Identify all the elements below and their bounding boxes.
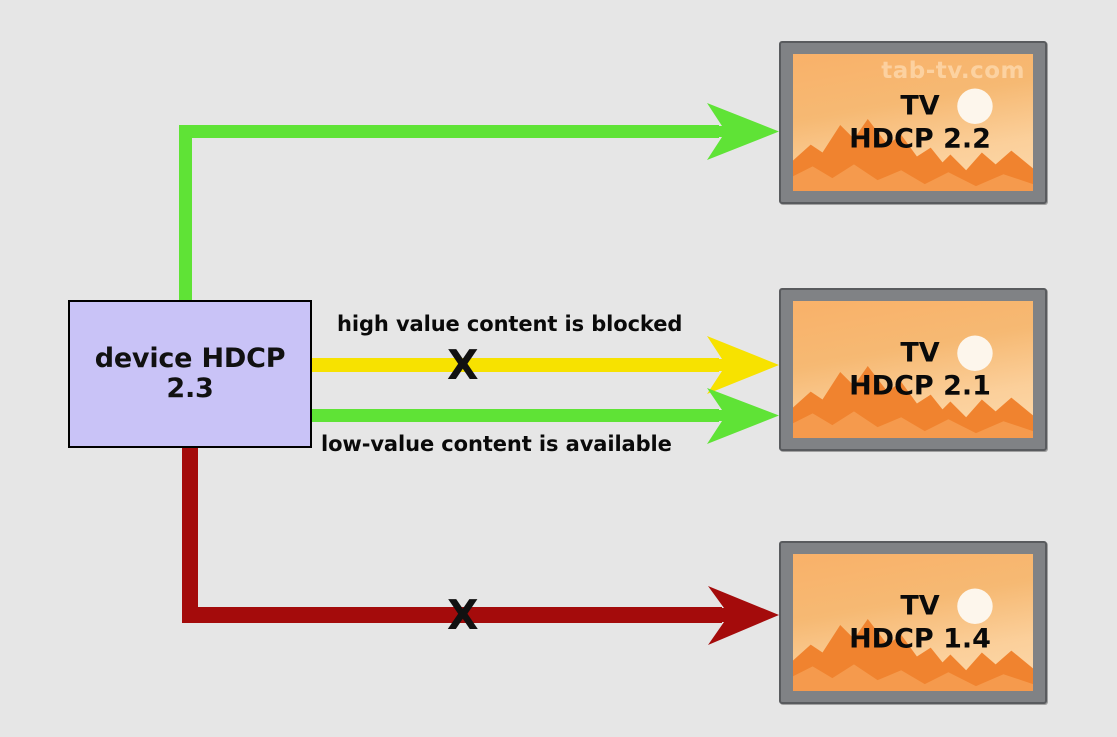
connector-horiz-yellow — [312, 358, 719, 372]
tv-screen-middle: TV HDCP 2.1 — [793, 301, 1033, 438]
connector-line-green-top — [179, 125, 718, 300]
arrowhead-green-mid — [705, 388, 779, 444]
tv-caption-top: TV HDCP 2.2 — [793, 89, 1033, 156]
connection-label-high-value-blocked: high value content is blocked — [337, 312, 682, 336]
connector-vert-green-top — [179, 125, 192, 301]
source-device-box[interactable]: device HDCP 2.3 — [68, 300, 312, 448]
connector-horiz-green-mid — [312, 409, 719, 422]
tv-screen-top: tab-tv.com TV HDCP 2.2 — [793, 54, 1033, 191]
arrowhead-green-top — [705, 103, 779, 160]
connection-label-low-value-available: low-value content is available — [321, 432, 672, 456]
tv-screen-bottom: TV HDCP 1.4 — [793, 554, 1033, 691]
tv-hdcp-2-1[interactable]: TV HDCP 2.1 — [779, 288, 1047, 451]
connector-horiz-green-top — [179, 125, 719, 138]
source-device-label: device HDCP 2.3 — [95, 344, 286, 404]
tv-caption-bottom: TV HDCP 1.4 — [793, 589, 1033, 656]
blocked-x-marker-middle: X — [447, 345, 479, 386]
tv-hdcp-2-2[interactable]: tab-tv.com TV HDCP 2.2 — [779, 41, 1047, 204]
blocked-x-marker-bottom: X — [447, 595, 479, 636]
tv-hdcp-1-4[interactable]: TV HDCP 1.4 — [779, 541, 1047, 704]
arrowhead-yellow — [705, 336, 779, 394]
connector-device-to-tv-21-blocked — [312, 336, 779, 394]
tv-caption-middle: TV HDCP 2.1 — [793, 336, 1033, 403]
connector-vert-red — [182, 448, 198, 623]
diagram-canvas: device HDCP 2.3 high value content is bl… — [0, 0, 1117, 737]
connector-device-to-tv-14-blocked — [182, 448, 779, 645]
arrowhead-red — [706, 586, 779, 645]
connector-device-to-tv-22 — [179, 103, 779, 301]
